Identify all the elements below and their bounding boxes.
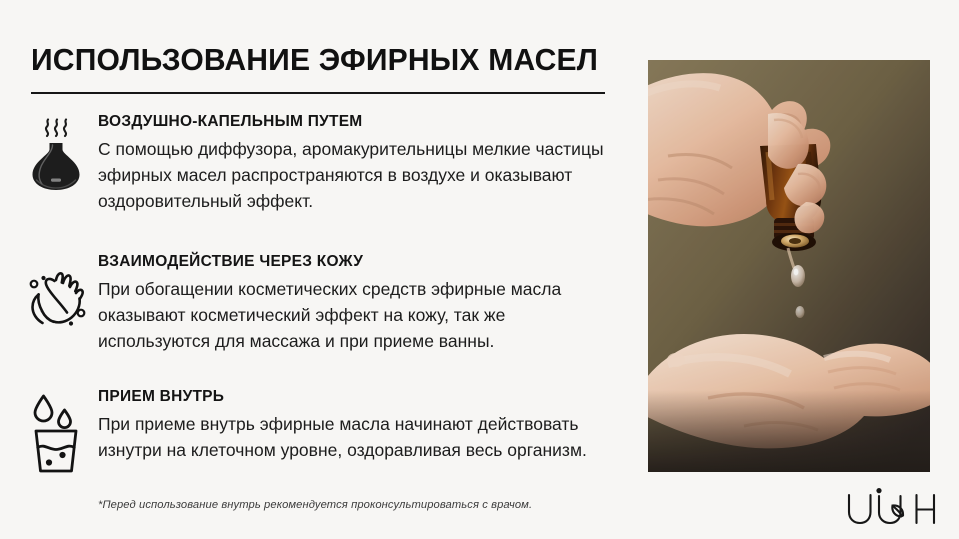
slide-root: ИСПОЛЬЗОВАНИЕ ЭФИРНЫХ МАСЕЛ ВОЗДУ bbox=[0, 0, 959, 539]
section-heading: ВОЗДУШНО-КАПЕЛЬНЫМ ПУТЕМ bbox=[98, 112, 634, 131]
title-divider bbox=[31, 92, 605, 94]
section-heading: ПРИЕМ ВНУТРЬ bbox=[98, 387, 634, 406]
section-text: ПРИЕМ ВНУТРЬ При приеме внутрь эфирные м… bbox=[98, 387, 634, 463]
diffuser-icon bbox=[14, 112, 98, 192]
section-skin: ВЗАИМОДЕЙСТВИЕ ЧЕРЕЗ КОЖУ При обогащении… bbox=[14, 252, 634, 354]
section-body: При обогащении косметических средств эфи… bbox=[98, 276, 618, 354]
page-title: ИСПОЛЬЗОВАНИЕ ЭФИРНЫХ МАСЕЛ bbox=[31, 41, 598, 79]
footnote-disclaimer: *Перед использование внутрь рекомендуетс… bbox=[98, 499, 532, 511]
section-heading: ВЗАИМОДЕЙСТВИЕ ЧЕРЕЗ КОЖУ bbox=[98, 252, 634, 271]
section-internal: ПРИЕМ ВНУТРЬ При приеме внутрь эфирные м… bbox=[14, 387, 634, 475]
hands-icon bbox=[14, 252, 98, 328]
section-text: ВЗАИМОДЕЙСТВИЕ ЧЕРЕЗ КОЖУ При обогащении… bbox=[98, 252, 634, 354]
section-body: С помощью диффузора, аромакурительницы м… bbox=[98, 136, 618, 214]
water-glass-icon bbox=[14, 387, 98, 475]
section-airborne: ВОЗДУШНО-КАПЕЛЬНЫМ ПУТЕМ С помощью диффу… bbox=[14, 112, 634, 214]
photo-essential-oil-dropper bbox=[648, 60, 930, 472]
section-body: При приеме внутрь эфирные масла начинают… bbox=[98, 411, 618, 463]
brand-logo bbox=[845, 488, 937, 528]
section-text: ВОЗДУШНО-КАПЕЛЬНЫМ ПУТЕМ С помощью диффу… bbox=[98, 112, 634, 214]
